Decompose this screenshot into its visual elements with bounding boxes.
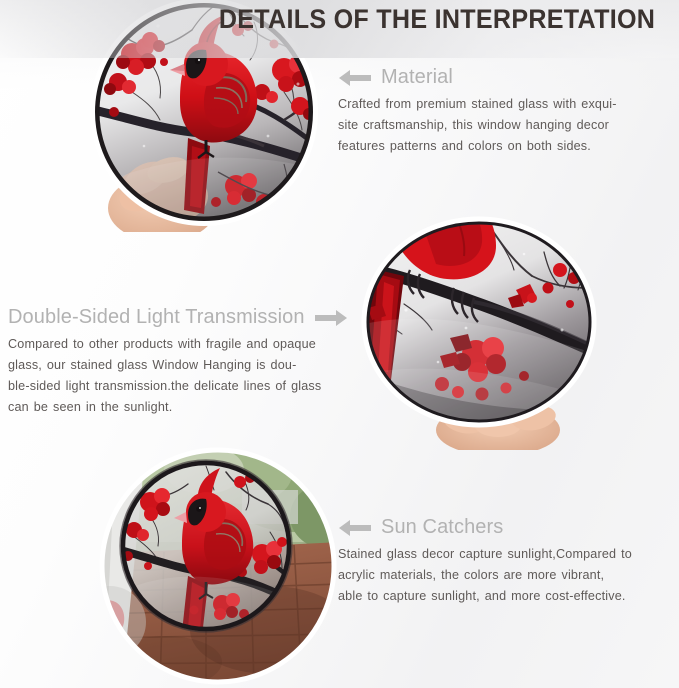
section-suncatcher-body: Stained glass decor capture sunlight,Com…	[338, 544, 676, 607]
transmission-line-4: can be seen in the sunlight.	[8, 397, 338, 418]
material-line-1: Crafted from premium stained glass with …	[338, 94, 672, 115]
transmission-line-3: ble-sided light transmission.the delicat…	[8, 376, 338, 397]
product-photo-window-hanging	[94, 446, 342, 686]
section-material-title: Material	[381, 66, 453, 89]
section-suncatcher-title: Sun Catchers	[381, 516, 503, 539]
product-photo-light-transmission	[348, 212, 610, 450]
transmission-line-1: Compared to other products with fragile …	[8, 334, 338, 355]
arrow-left-icon	[338, 68, 372, 88]
material-line-2: site craftsmanship, this window hanging …	[338, 115, 672, 136]
section-suncatcher-header: Sun Catchers	[338, 516, 676, 539]
section-material-body: Crafted from premium stained glass with …	[338, 94, 672, 157]
section-transmission-title: Double-Sided Light Transmission	[8, 306, 305, 329]
header: DETAILS OF THE INTERPRETATION	[0, 0, 679, 62]
section-material: Material Crafted from premium stained gl…	[338, 66, 672, 157]
suncatcher-line-3: able to capture sunlight, and more cost-…	[338, 586, 676, 607]
arrow-right-icon	[314, 308, 348, 328]
section-transmission-body: Compared to other products with fragile …	[8, 334, 338, 418]
page-title: DETAILS OF THE INTERPRETATION	[219, 4, 655, 35]
section-transmission-header: Double-Sided Light Transmission	[8, 306, 338, 329]
section-material-header: Material	[338, 66, 672, 89]
material-line-3: features patterns and colors on both sid…	[338, 136, 672, 157]
transmission-line-2: glass, our stained glass Window Hanging …	[8, 355, 338, 376]
section-suncatcher: Sun Catchers Stained glass decor capture…	[338, 516, 676, 607]
section-transmission: Double-Sided Light Transmission Compared…	[8, 306, 338, 418]
arrow-left-icon	[338, 518, 372, 538]
suncatcher-line-2: acrylic materials, the colors are more v…	[338, 565, 676, 586]
suncatcher-line-1: Stained glass decor capture sunlight,Com…	[338, 544, 676, 565]
